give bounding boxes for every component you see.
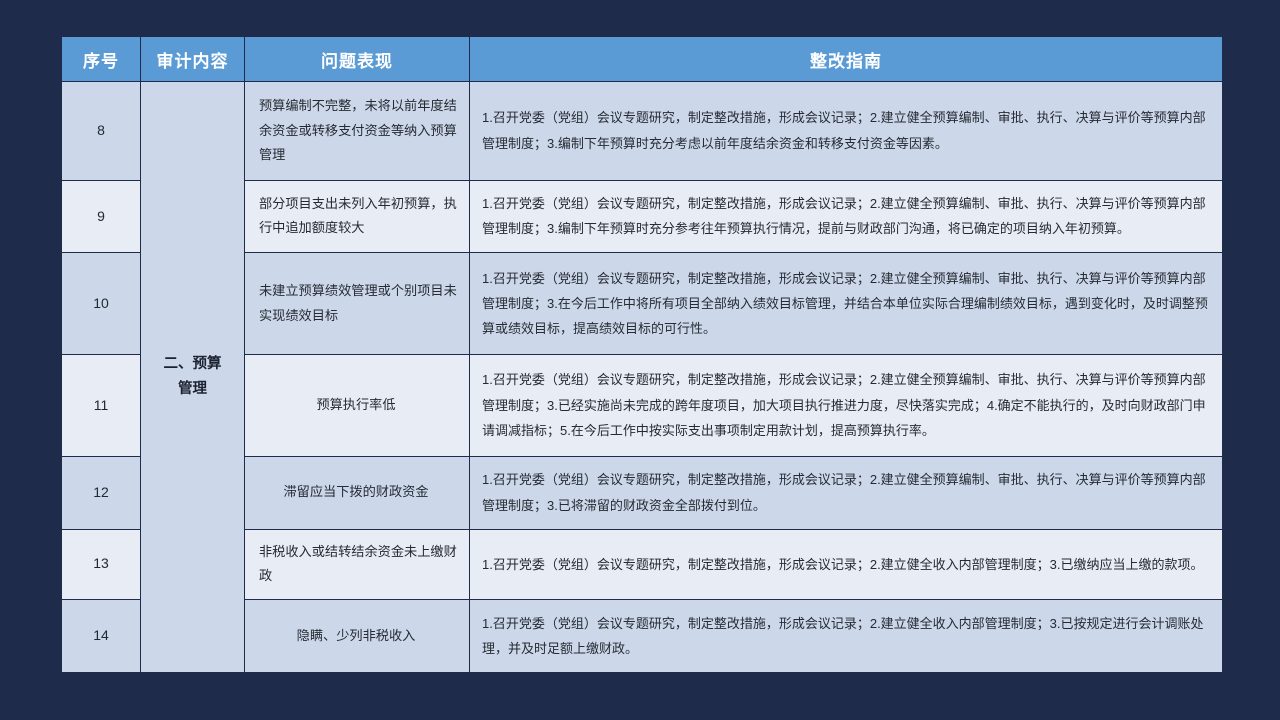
cell-guidance: 1.召开党委（党组）会议专题研究，制定整改措施，形成会议记录；2.建立健全收入内… xyxy=(470,600,1222,672)
audit-group-label-line1: 二、预算 xyxy=(164,356,222,372)
table-header-row: 序号 审计内容 问题表现 整改指南 xyxy=(62,37,1222,81)
slide-canvas: 序号 审计内容 问题表现 整改指南 8 二、预算 管理 预算编制不完整，未将以前… xyxy=(0,0,1280,720)
cell-row-number: 10 xyxy=(62,253,140,354)
table-header: 序号 审计内容 问题表现 整改指南 xyxy=(62,37,1222,81)
column-header-issue: 问题表现 xyxy=(245,37,469,81)
cell-issue: 滞留应当下拨的财政资金 xyxy=(245,457,469,529)
cell-row-number: 9 xyxy=(62,181,140,253)
cell-guidance: 1.召开党委（党组）会议专题研究，制定整改措施，形成会议记录；2.建立健全预算编… xyxy=(470,82,1222,180)
audit-rectification-table: 序号 审计内容 问题表现 整改指南 8 二、预算 管理 预算编制不完整，未将以前… xyxy=(61,36,1223,673)
cell-guidance: 1.召开党委（党组）会议专题研究，制定整改措施，形成会议记录；2.建立健全预算编… xyxy=(470,457,1222,529)
cell-issue: 隐瞒、少列非税收入 xyxy=(245,600,469,672)
audit-rectification-table-wrapper: 序号 审计内容 问题表现 整改指南 8 二、预算 管理 预算编制不完整，未将以前… xyxy=(61,36,1218,673)
column-header-no: 序号 xyxy=(62,37,140,81)
cell-issue: 未建立预算绩效管理或个别项目未实现绩效目标 xyxy=(245,253,469,354)
cell-row-number: 12 xyxy=(62,457,140,529)
cell-row-number: 11 xyxy=(62,355,140,456)
cell-guidance: 1.召开党委（党组）会议专题研究，制定整改措施，形成会议记录；2.建立健全预算编… xyxy=(470,253,1222,354)
table-row: 8 二、预算 管理 预算编制不完整，未将以前年度结余资金或转移支付资金等纳入预算… xyxy=(62,82,1222,180)
audit-group-label-line2: 管理 xyxy=(178,381,207,397)
table-body: 8 二、预算 管理 预算编制不完整，未将以前年度结余资金或转移支付资金等纳入预算… xyxy=(62,82,1222,672)
cell-issue: 预算编制不完整，未将以前年度结余资金或转移支付资金等纳入预算管理 xyxy=(245,82,469,180)
column-header-audit-content: 审计内容 xyxy=(141,37,244,81)
cell-issue: 非税收入或结转结余资金未上缴财政 xyxy=(245,530,469,600)
cell-guidance: 1.召开党委（党组）会议专题研究，制定整改措施，形成会议记录；2.建立健全预算编… xyxy=(470,181,1222,253)
cell-issue: 部分项目支出未列入年初预算，执行中追加额度较大 xyxy=(245,181,469,253)
column-header-guidance: 整改指南 xyxy=(470,37,1222,81)
cell-row-number: 8 xyxy=(62,82,140,180)
cell-row-number: 13 xyxy=(62,530,140,600)
cell-row-number: 14 xyxy=(62,600,140,672)
cell-audit-content-group: 二、预算 管理 xyxy=(141,82,244,672)
cell-guidance: 1.召开党委（党组）会议专题研究，制定整改措施，形成会议记录；2.建立健全收入内… xyxy=(470,530,1222,600)
cell-guidance: 1.召开党委（党组）会议专题研究，制定整改措施，形成会议记录；2.建立健全预算编… xyxy=(470,355,1222,456)
cell-issue: 预算执行率低 xyxy=(245,355,469,456)
